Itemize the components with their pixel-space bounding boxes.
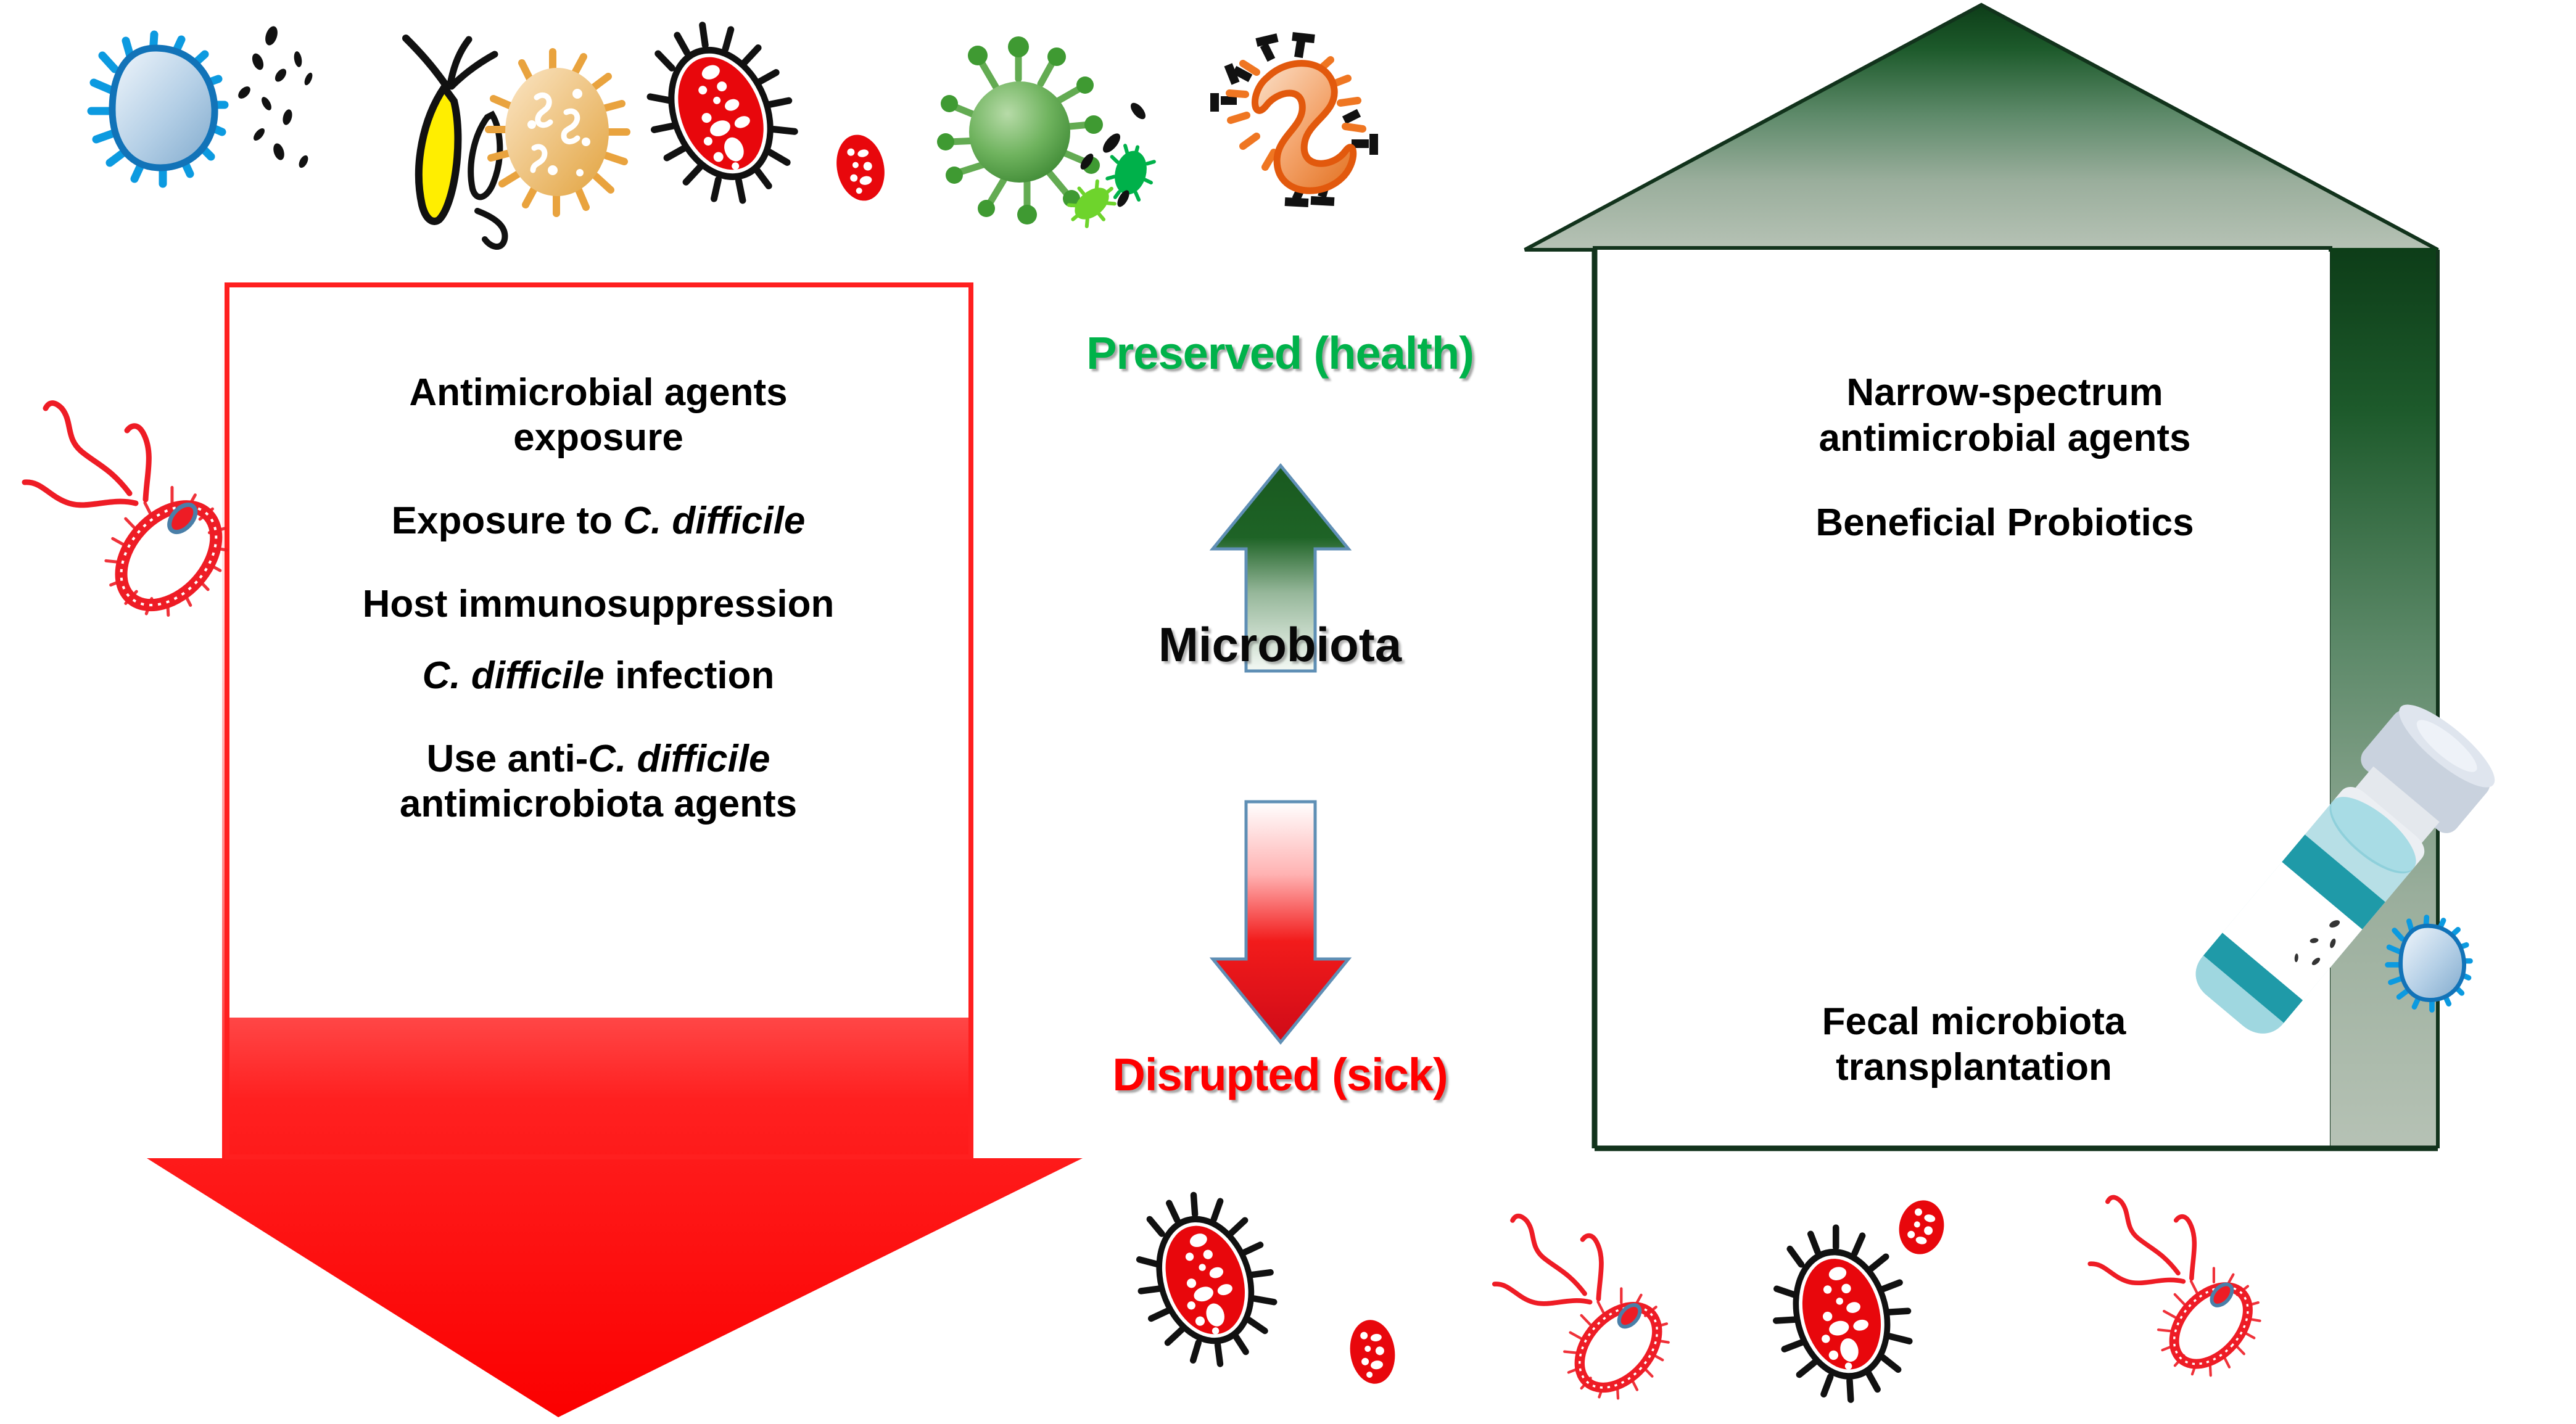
yellow-flagellated-organism-icon bbox=[406, 38, 505, 247]
small-red-bacillus-icon bbox=[1894, 1196, 1949, 1258]
lime-spiky-bacterium-icon bbox=[1060, 173, 1123, 234]
disrupted-sick-label: Disrupted (sick) bbox=[970, 1048, 1590, 1101]
intervention-probiotics: Beneficial Probiotics bbox=[1629, 500, 2381, 546]
red-flagellated-ecoli-icon bbox=[2090, 1197, 2279, 1394]
risk-item-cdiff-exposure: Exposure to C. difficile bbox=[234, 498, 962, 543]
intervention-narrow-spectrum: Narrow-spectrum antimicrobial agents bbox=[1629, 370, 2381, 462]
red-bacillus-black-cilia-icon bbox=[1758, 1216, 1926, 1412]
intervention-list-top: Narrow-spectrum antimicrobial agents Ben… bbox=[1629, 370, 2381, 546]
orange-spiky-bacterium-icon bbox=[489, 52, 627, 213]
risk-item-cdiff-infection: C. difficile infection bbox=[234, 653, 962, 698]
small-red-bacillus-icon bbox=[831, 130, 891, 205]
red-bacillus-black-cilia-icon bbox=[1118, 1180, 1292, 1380]
risk-item-immunosuppression: Host immunosuppression bbox=[234, 582, 962, 627]
risk-item-anti-cdiff-agents: Use anti-C. difficile antimicrobiota age… bbox=[234, 736, 962, 826]
microbiota-label: Microbiota bbox=[970, 617, 1590, 673]
figure-canvas: Antimicrobial agents exposure Exposure t… bbox=[0, 0, 2576, 1424]
green-virus-spikes-icon bbox=[937, 36, 1103, 224]
risk-factor-list: Antimicrobial agents exposure Exposure t… bbox=[234, 370, 962, 826]
species-name-cdiff: C. difficile bbox=[588, 738, 770, 780]
intervention-fmt: Fecal microbiota transplantation bbox=[1629, 999, 2319, 1091]
red-bacillus-black-cilia-icon bbox=[625, 6, 817, 221]
species-name-cdiff: C. difficile bbox=[623, 500, 805, 542]
red-flagellated-ecoli-icon bbox=[25, 403, 250, 638]
black-specks-cluster-icon bbox=[236, 25, 314, 170]
risk-item-antimicrobial-exposure: Antimicrobial agents exposure bbox=[234, 370, 962, 460]
orange-curved-bacterium-icon bbox=[1215, 36, 1374, 203]
small-red-bacillus-icon bbox=[1346, 1317, 1399, 1386]
red-down-arrow-icon bbox=[1213, 802, 1348, 1042]
blue-ciliated-bacterium-icon bbox=[91, 35, 225, 184]
species-name-cdiff: C. difficile bbox=[423, 654, 605, 697]
red-flagellated-ecoli-icon bbox=[1495, 1216, 1688, 1418]
preserved-health-label: Preserved (health) bbox=[970, 327, 1590, 379]
